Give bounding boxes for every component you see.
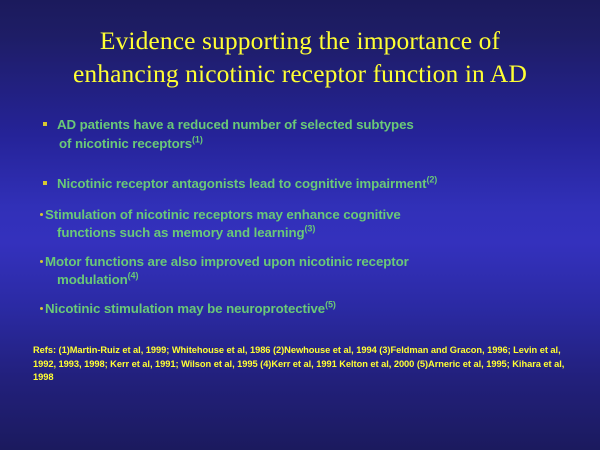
bullet-item-3-text: Stimulation of nicotinic receptors may e… (45, 206, 594, 225)
bullet-spacer-4 (34, 290, 594, 300)
bullet-item-3: Stimulation of nicotinic receptors may e… (34, 206, 594, 243)
bullet-item-1-citation: (1) (192, 134, 203, 144)
bullet-item-4-continuation: modulation(4) (45, 271, 594, 290)
bullet-item-4: Motor functions are also improved upon n… (34, 253, 594, 290)
references-block: Refs: (1)Martin-Ruiz et al, 1999; Whiteh… (33, 344, 573, 385)
bullet-item-4-text: Motor functions are also improved upon n… (45, 253, 594, 272)
bullet-item-5: Nicotinic stimulation may be neuroprotec… (34, 300, 594, 319)
bullet-spacer-1 (34, 153, 594, 175)
square-bullet-icon (43, 181, 47, 185)
bullet-spacer-2 (34, 194, 594, 206)
bullet-item-1: AD patients have a reduced number of sel… (34, 116, 594, 153)
dot-bullet-icon (40, 213, 43, 216)
presentation-slide: Evidence supporting the importance of en… (0, 0, 600, 450)
dot-bullet-icon (40, 307, 43, 310)
dot-bullet-icon (40, 260, 43, 263)
bullet-item-1-continuation-text: of nicotinic receptors (59, 136, 192, 151)
bullet-item-4-continuation-text: modulation (57, 272, 128, 287)
bullet-item-5-citation: (5) (325, 299, 336, 309)
bullet-item-3-continuation: functions such as memory and learning(3) (45, 224, 594, 243)
bullet-item-2-text: Nicotinic receptor antagonists lead to c… (57, 175, 594, 194)
bullet-item-1-continuation: of nicotinic receptors(1) (57, 135, 594, 154)
slide-title: Evidence supporting the importance of en… (0, 24, 600, 90)
bullet-item-4-citation: (4) (128, 271, 139, 281)
bullet-item-5-text: Nicotinic stimulation may be neuroprotec… (45, 300, 594, 319)
bullet-item-3-citation: (3) (305, 224, 316, 234)
bullet-item-3-continuation-text: functions such as memory and learning (57, 225, 305, 240)
bullet-item-1-text: AD patients have a reduced number of sel… (57, 116, 594, 135)
bullet-list: AD patients have a reduced number of sel… (34, 116, 594, 318)
bullet-item-2: Nicotinic receptor antagonists lead to c… (34, 175, 594, 194)
square-bullet-icon (43, 122, 47, 126)
bullet-spacer-3 (34, 243, 594, 253)
slide-title-line-1: Evidence supporting the importance of (0, 24, 600, 57)
bullet-item-2-label: Nicotinic receptor antagonists lead to c… (57, 176, 426, 191)
slide-title-line-2: enhancing nicotinic receptor function in… (0, 57, 600, 90)
bullet-item-5-label: Nicotinic stimulation may be neuroprotec… (45, 301, 325, 316)
bullet-item-2-citation: (2) (426, 175, 437, 185)
